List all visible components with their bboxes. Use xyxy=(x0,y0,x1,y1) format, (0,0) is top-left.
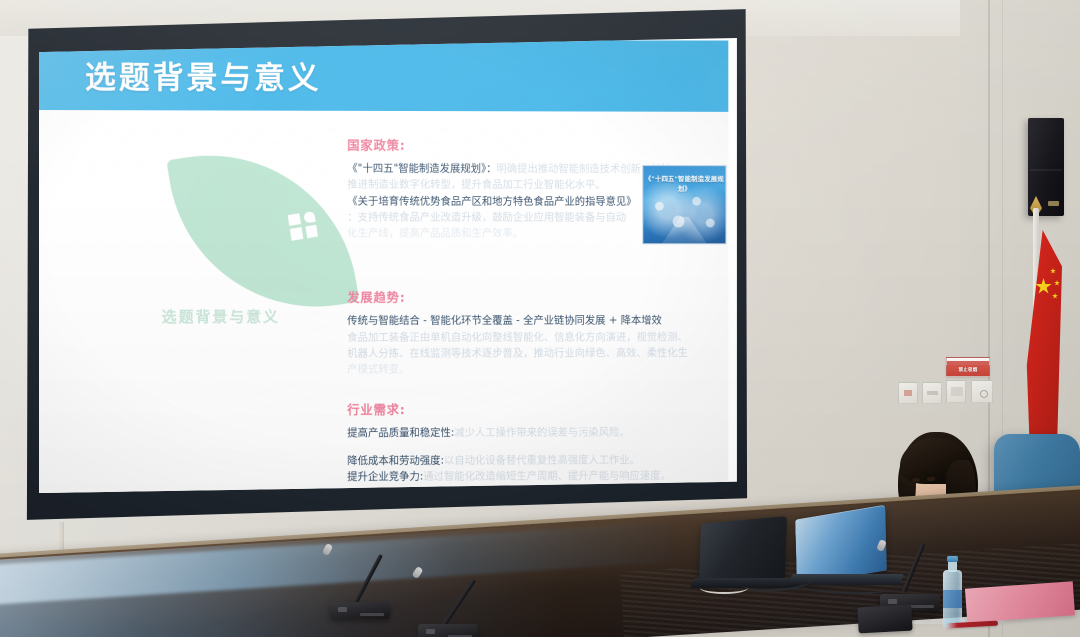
wall-plate[interactable] xyxy=(898,382,918,404)
mic-led xyxy=(338,607,347,612)
eye xyxy=(927,477,935,481)
section-heading: 行业需求: xyxy=(347,399,730,419)
slide-content-column: 国家政策: 《"十四五"智能制造发展规划》：明确提出推动智能制造技术创新，加快 … xyxy=(347,135,730,493)
speaker-badge xyxy=(1048,201,1059,206)
sign-bar xyxy=(947,361,989,366)
line-tail: 通过智能化改造缩短生产周期、提升产能与响应速度。 xyxy=(423,470,670,483)
desk-control-device[interactable] xyxy=(857,605,912,634)
conference-room-scene: 选题背景与意义 选题背景与意义 国家政策: xyxy=(0,0,1080,637)
display-screen[interactable]: 选题背景与意义 选题背景与意义 国家政策: xyxy=(39,38,737,493)
wall-plate[interactable] xyxy=(922,382,942,404)
speaker-seam xyxy=(1030,169,1062,171)
cover-dot xyxy=(705,219,714,228)
line-text: 提高产品质量和稳定性: xyxy=(347,427,454,439)
mic-strip xyxy=(910,605,934,608)
cover-dot xyxy=(672,215,684,227)
section-heading: 发展趋势: xyxy=(347,287,730,306)
mic-led xyxy=(426,629,435,634)
bottle-cap xyxy=(947,556,958,562)
cable xyxy=(700,582,748,594)
line-text: 《"十四五"智能制造发展规划》： xyxy=(347,163,496,175)
water-bottle[interactable] xyxy=(943,556,962,628)
section-line: 传统与智能结合 - 智能化环节全覆盖 - 全产业链协同发展 + 降本增效 xyxy=(347,313,730,329)
sidebar-caption: 选题背景与意义 xyxy=(161,306,279,327)
line-text: 提升企业竞争力: xyxy=(347,471,423,483)
slide-sidebar-decoration: 选题背景与意义 xyxy=(133,146,361,356)
page-title: 选题背景与意义 xyxy=(84,52,321,98)
eye xyxy=(912,478,920,482)
section-line: 食品加工装备正由单机自动化向整线智能化、信息化方向演进，视觉检测、 xyxy=(347,329,730,346)
mic-strip xyxy=(360,613,384,616)
policy-cover-thumbnail: 《"十四五"智能制造发展规划》 xyxy=(642,165,726,244)
section-line: 机器人分拣、在线监测等技术逐步普及，推动行业向绿色、高效、柔性化生 xyxy=(347,345,730,362)
bottle-label xyxy=(943,590,962,608)
section-development-trend: 发展趋势: 传统与智能结合 - 智能化环节全覆盖 - 全产业链协同发展 + 降本… xyxy=(347,287,730,378)
cover-dot xyxy=(654,202,663,211)
grid-squares-icon xyxy=(287,210,321,242)
line-text: 降低成本和劳动强度: xyxy=(347,454,444,466)
section-industry-demand: 行业需求: 提高产品质量和稳定性:减少人工操作带来的误差与污染风险。 降低成本和… xyxy=(347,399,730,485)
wall-plate[interactable] xyxy=(946,380,966,403)
mic-led xyxy=(888,599,897,604)
section-line: 产模式转变。 xyxy=(347,361,730,378)
section-line: 降低成本和劳动强度:以自动化设备替代重复性高强度人工作业。 xyxy=(347,451,730,468)
wall-plate[interactable] xyxy=(971,380,993,403)
section-line: 提升企业竞争力:通过智能化改造缩短生产周期、提升产能与响应速度。 xyxy=(347,467,730,485)
cover-dot xyxy=(692,197,701,206)
cover-title: 《"十四五"智能制造发展规划》 xyxy=(643,173,725,193)
line-tail: 减少人工操作带来的误差与污染风险。 xyxy=(454,427,629,439)
mic-base[interactable] xyxy=(330,602,390,619)
section-heading: 国家政策: xyxy=(347,135,730,155)
wall-warning-sign: 禁止吸烟 xyxy=(946,357,990,377)
section-line: 提高产品质量和稳定性:减少人工操作带来的误差与污染风险。 xyxy=(347,424,730,441)
slide-canvas: 选题背景与意义 选题背景与意义 国家政策: xyxy=(39,38,729,493)
mic-base[interactable] xyxy=(418,624,478,637)
line-tail: 以自动化设备替代重复性高强度人工作业。 xyxy=(444,454,640,467)
presentation-display[interactable]: 选题背景与意义 选题背景与意义 国家政策: xyxy=(24,6,750,522)
fan-shape xyxy=(166,134,359,328)
sign-text: 禁止吸烟 xyxy=(947,367,989,373)
